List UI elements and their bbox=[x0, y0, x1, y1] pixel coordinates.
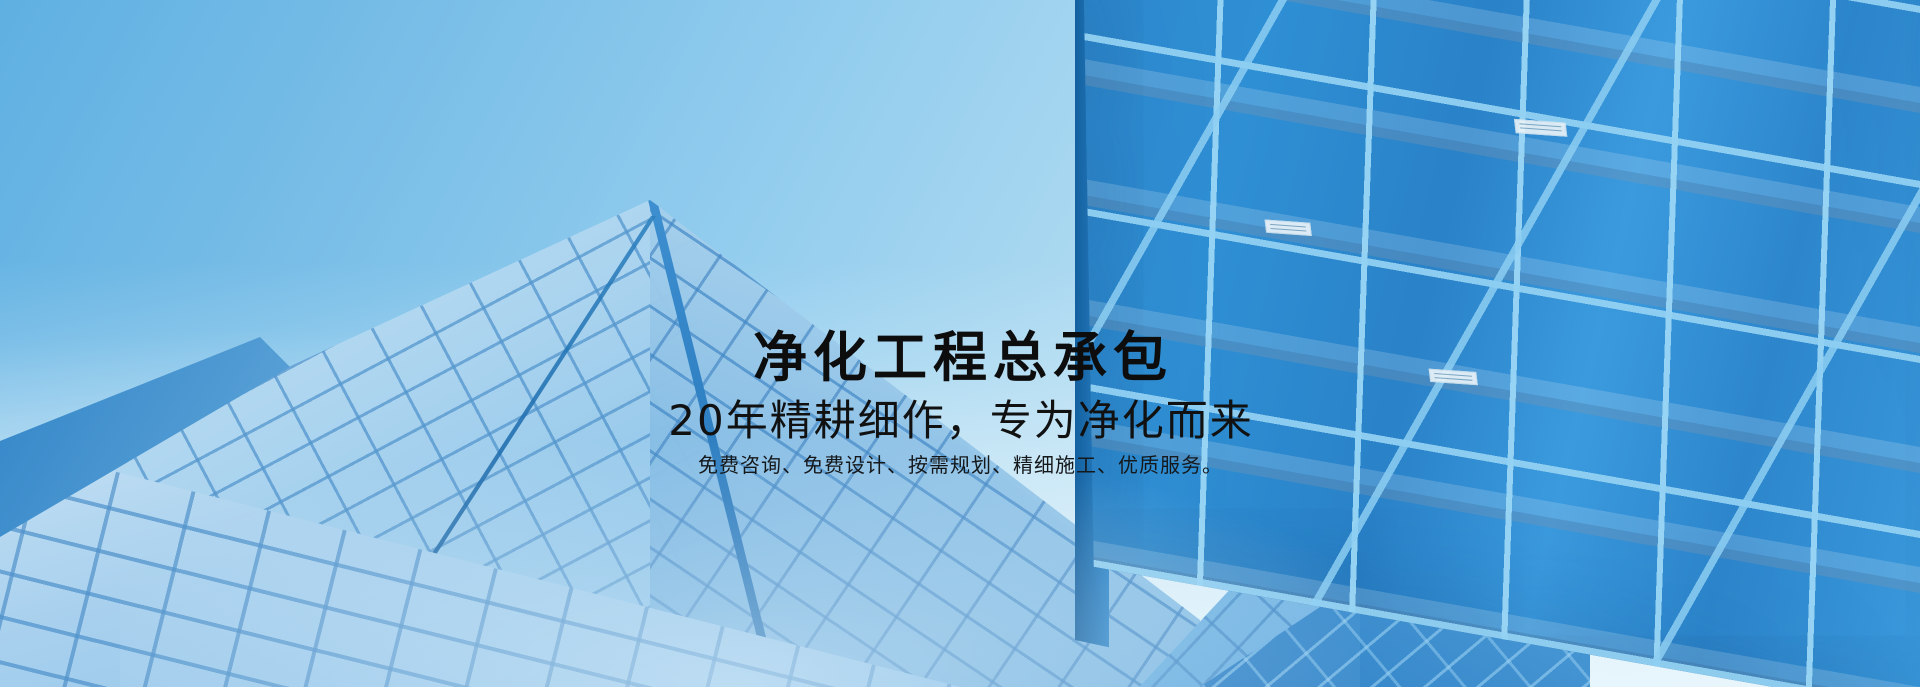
right-glass-tower bbox=[1080, 0, 1920, 687]
right-tower-diagonal-mullions bbox=[1080, 0, 1920, 687]
hero-banner: 净化工程总承包 20年精耕细作，专为净化而来 免费咨询、免费设计、按需规划、精细… bbox=[0, 0, 1920, 687]
